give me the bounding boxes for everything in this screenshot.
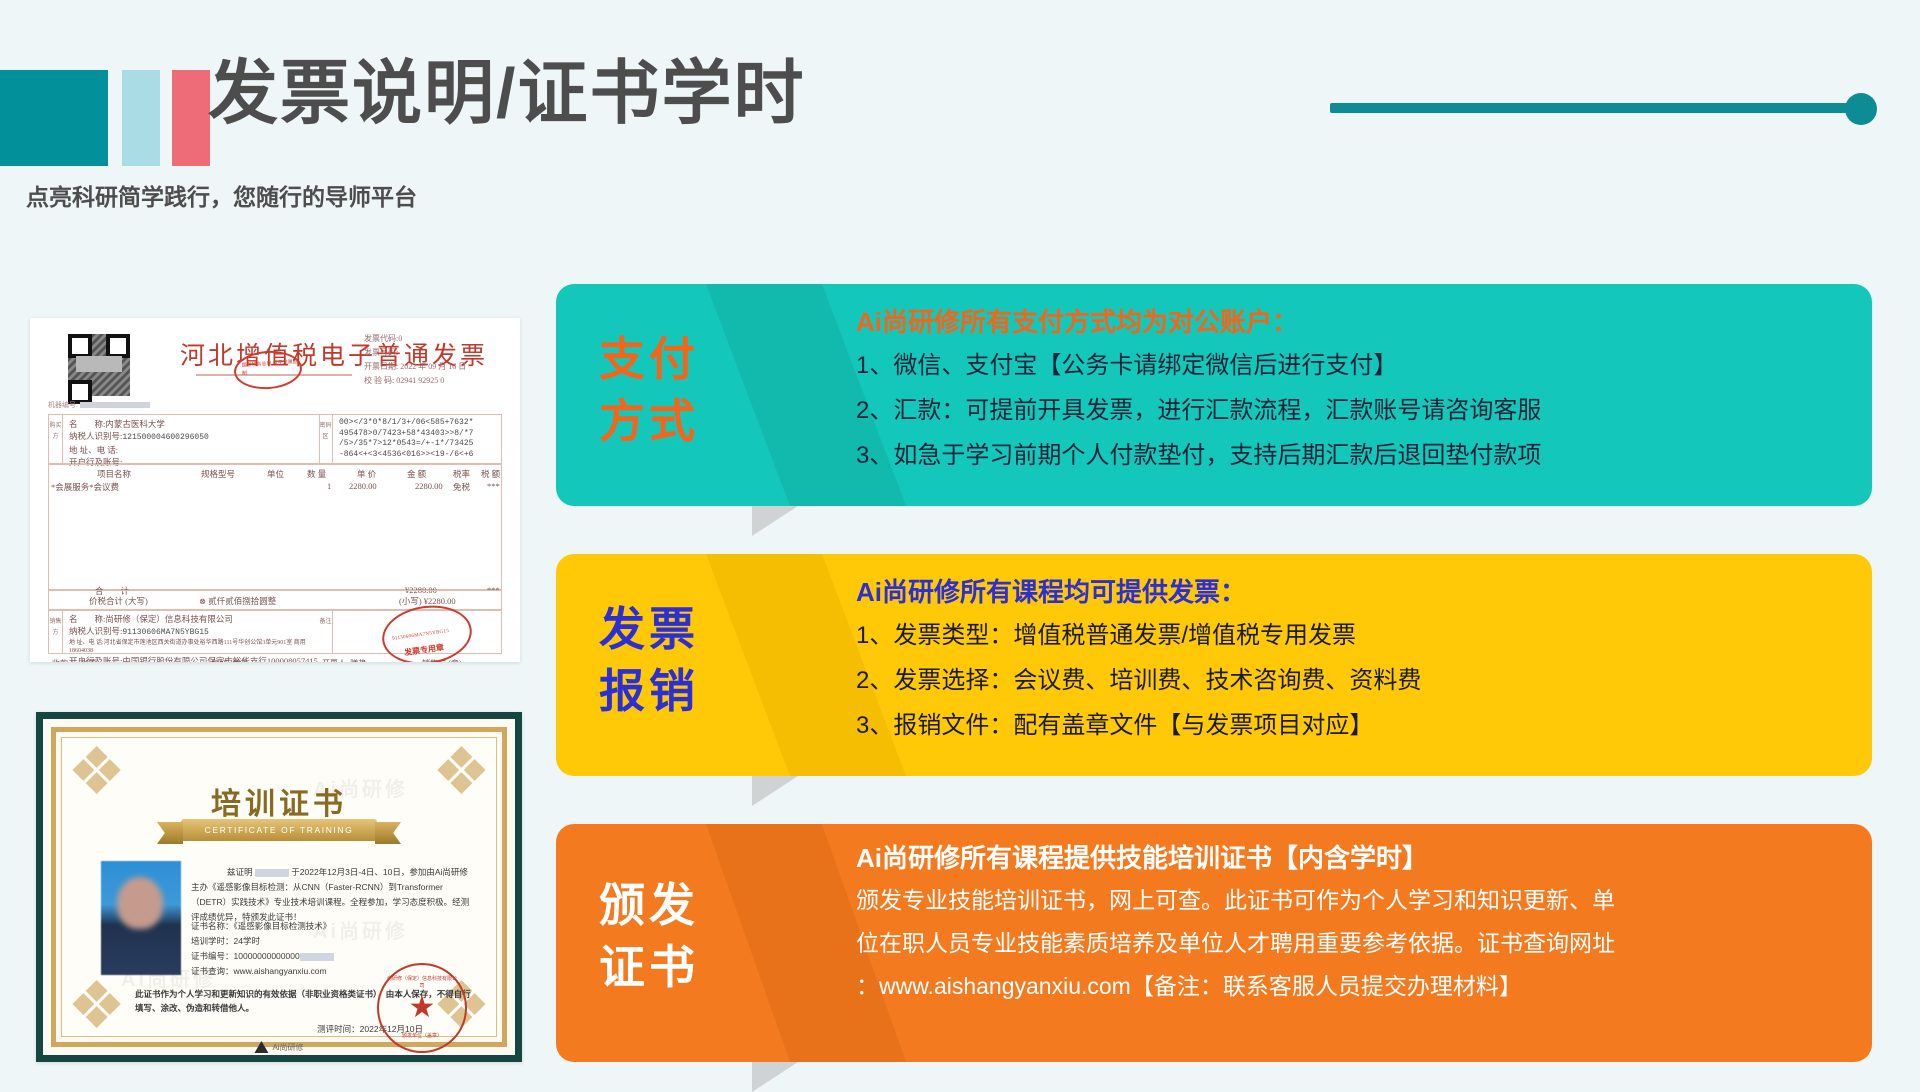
card-payment-item: 3、如急于学习前期个人付款垫付，支持后期汇款后退回垫付款项 — [856, 433, 1846, 478]
certificate-fields: 证书名称：《遥感影像目标检测技术》 培训学时：24学时 证书编号：1000000… — [191, 919, 334, 979]
certificate-sample-image: ❖ ❖ ❖ ❖ Ai尚研修 Ai尚研修 Ai尚研修 培训证书 CERTIFICA… — [36, 712, 522, 1062]
card-payment-heading: Ai尚研修所有支付方式均为对公账户： — [856, 302, 1846, 339]
card-certificate-heading: Ai尚研修所有课程提供技能培训证书【内含学时】 — [856, 838, 1846, 875]
invoice-items-table: 项目名称 规格型号 单位 数 量 单 价 金 额 税率 税 额 *会展服务*会议… — [48, 464, 502, 590]
card-invoice-content: Ai尚研修所有课程均可提供发票： 1、发票类型：增值税普通发票/增值税专用发票 … — [856, 554, 1846, 776]
card-payment-item: 2、汇款：可提前开具发票，进行汇款流程，汇款账号请咨询客服 — [856, 388, 1846, 433]
card-payment[interactable]: 支付 方式 Ai尚研修所有支付方式均为对公账户： 1、微信、支付宝【公务卡请绑定… — [556, 284, 1872, 506]
invoice-remark-side-label: 备注 — [319, 611, 333, 653]
invoice-buyer-box: 购买方 名 称:内蒙古医科大学 纳税人识别号:12150000460029605… — [48, 414, 502, 464]
card-invoice[interactable]: 发票 报销 Ai尚研修所有课程均可提供发票： 1、发票类型：增值税普通发票/增值… — [556, 554, 1872, 776]
card-certificate-label: 颁发 证书 — [574, 874, 724, 998]
card-payment-content: Ai尚研修所有支付方式均为对公账户： 1、微信、支付宝【公务卡请绑定微信后进行支… — [856, 284, 1846, 506]
card-certificate[interactable]: 颁发 证书 Ai尚研修所有课程提供技能培训证书【内含学时】 颁发专业技能培训证书… — [556, 824, 1872, 1062]
card-payment-fold — [752, 506, 798, 536]
brand-triangle-icon — [254, 1041, 268, 1053]
invoice-machine-label: 机器编号: — [48, 400, 150, 410]
page-title: 发票说明/证书学时 — [208, 58, 805, 128]
invoice-buyer-side-label: 购买方 — [49, 415, 63, 463]
header-bar-teal — [0, 70, 108, 166]
decorative-dot-icon — [1845, 93, 1877, 125]
redaction-mask — [76, 356, 122, 372]
certificate-subtitle-en: CERTIFICATE OF TRAINING — [205, 825, 354, 835]
card-invoice-label: 发票 报销 — [574, 598, 724, 722]
decorative-line — [1330, 103, 1860, 113]
invoice-meta: 发票代码:0 发票号码: 开票日期: 2022 年 09 月 16 日 校 验 … — [364, 332, 466, 388]
card-invoice-item: 2、发票选择：会议费、培训费、技术咨询费、资料费 — [856, 658, 1846, 703]
invoice-sample-image: 机器编号: 河北增值税电子普通发票 国家税务总局 电子发票监制 发票代码:0 发… — [30, 318, 520, 662]
header-bar-red — [172, 70, 210, 166]
card-invoice-item: 1、发票类型：增值税普通发票/增值税专用发票 — [856, 613, 1846, 658]
star-icon: ★ — [409, 993, 436, 1023]
card-invoice-fold — [752, 776, 798, 806]
card-invoice-item: 3、报销文件：配有盖章文件【与发票项目对应】 — [856, 703, 1846, 748]
invoice-cipher-block: 00></3*0*8/1/3+/06<585+7632* 495478>0/74… — [339, 418, 473, 460]
card-payment-item: 1、微信、支付宝【公务卡请绑定微信后进行支付】 — [856, 343, 1846, 388]
invoice-cipher-side-label: 密码区 — [319, 415, 333, 463]
page-subtitle: 点亮科研简学践行，您随行的导师平台 — [26, 178, 417, 212]
card-certificate-item: 位在职人员专业技能素质培养及单位人才聘用重要参考依据。证书查询网址 — [856, 922, 1846, 965]
card-certificate-fold — [752, 1062, 798, 1092]
card-certificate-item: 颁发专业技能培训证书，网上可查。此证书可作为个人学习和知识更新、单 — [856, 879, 1846, 922]
card-invoice-heading: Ai尚研修所有课程均可提供发票： — [856, 572, 1846, 609]
header-bar-lightblue — [122, 70, 160, 166]
certificate-portrait-photo — [101, 861, 181, 975]
certificate-logo: Ai尚研修 — [254, 1041, 303, 1053]
invoice-seller-side-label: 销售方 — [49, 611, 63, 653]
certificate-ribbon: CERTIFICATE OF TRAINING — [181, 819, 377, 841]
card-payment-label: 支付 方式 — [574, 328, 724, 452]
certificate-body-text: 兹证明 于2022年12月3日-4日、10日，参加由Ai尚研修主办《遥感影像目标… — [191, 865, 475, 925]
certificate-official-seal: 尚研修（保定）信息科技有限公司 ★ 颁发单位（盖章） — [377, 963, 467, 1053]
card-certificate-content: Ai尚研修所有课程提供技能培训证书【内含学时】 颁发专业技能培训证书，网上可查。… — [856, 824, 1846, 1062]
page-header: 发票说明/证书学时 点亮科研简学践行，您随行的导师平台 — [0, 0, 1920, 230]
certificate-title: 培训证书 — [43, 779, 515, 823]
card-certificate-item: ：www.aishangyanxiu.com【备注：联系客服人员提交办理材料】 — [856, 965, 1846, 1008]
